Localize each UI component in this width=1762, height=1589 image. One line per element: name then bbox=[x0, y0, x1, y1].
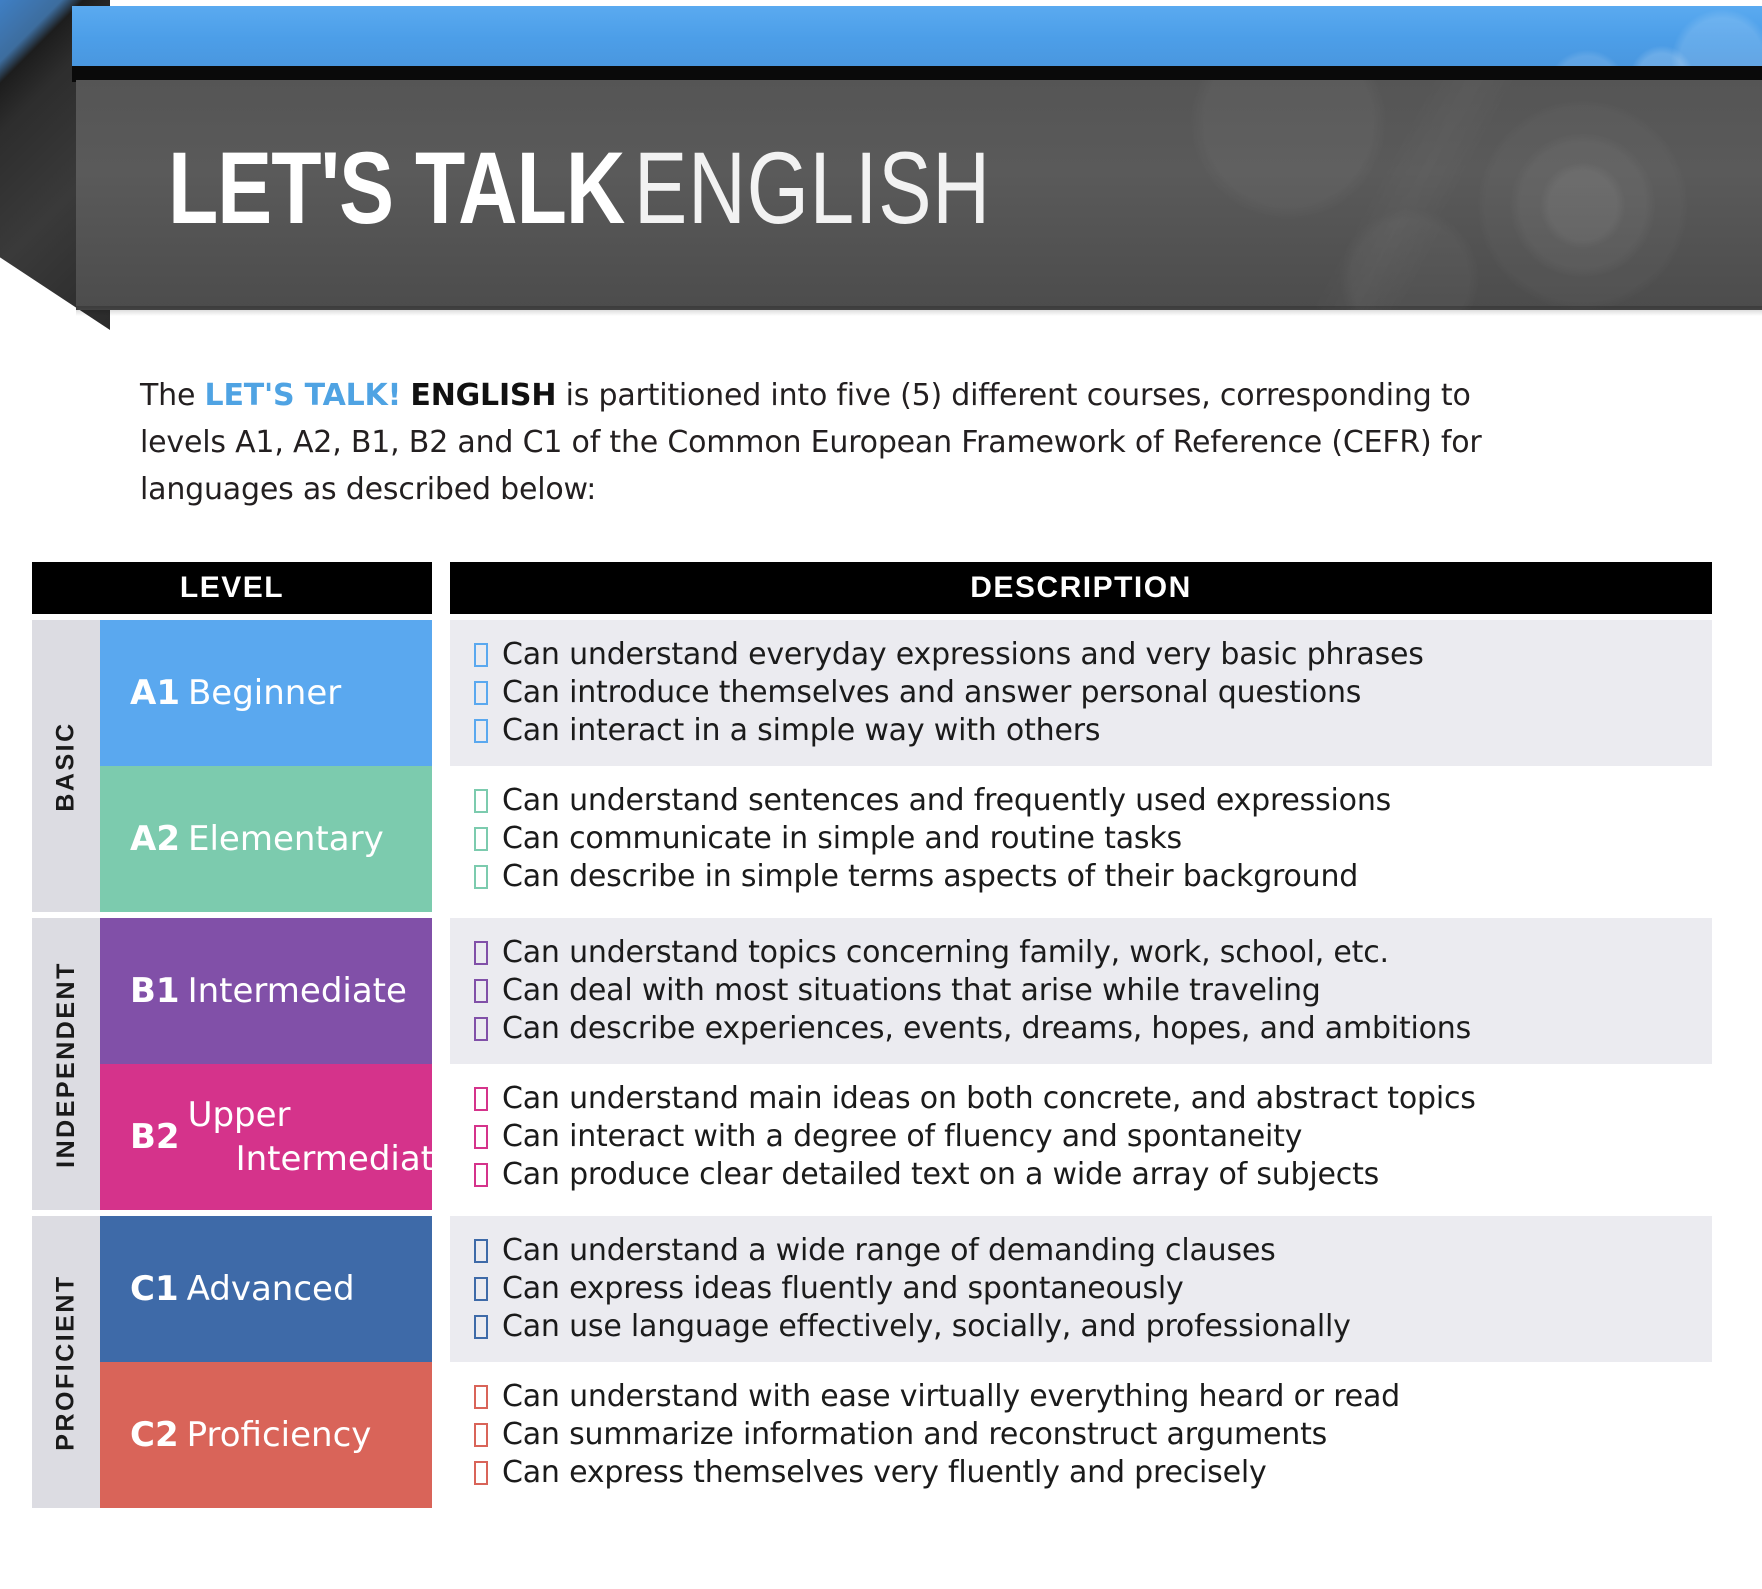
level-group: PROFICIENTC1AdvancedCan understand a wid… bbox=[32, 1216, 1712, 1508]
group-rows: B1IntermediateCan understand topics conc… bbox=[100, 918, 1712, 1210]
group-label-text: BASIC bbox=[52, 721, 81, 811]
description-bullet: Can express ideas fluently and spontaneo… bbox=[474, 1270, 1692, 1308]
level-cell-c2[interactable]: C2Proficiency bbox=[100, 1362, 432, 1508]
level-name-line2: Intermediate bbox=[188, 1137, 455, 1181]
description-bullet: Can understand sentences and frequently … bbox=[474, 782, 1692, 820]
banner-grey-texture bbox=[1122, 80, 1762, 310]
description-bullet: Can understand everyday expressions and … bbox=[474, 636, 1692, 674]
bullet-box-icon bbox=[474, 1163, 488, 1187]
column-spacer bbox=[432, 766, 450, 912]
column-spacer bbox=[432, 1216, 450, 1362]
description-bullet: Can interact in a simple way with others bbox=[474, 712, 1692, 750]
bullet-text: Can understand topics concerning family,… bbox=[502, 935, 1389, 970]
bullet-box-icon bbox=[474, 1315, 488, 1339]
bullet-box-icon bbox=[474, 941, 488, 965]
description-bullet: Can interact with a degree of fluency an… bbox=[474, 1118, 1692, 1156]
level-cell-a1[interactable]: A1Beginner bbox=[100, 620, 432, 766]
level-name: Beginner bbox=[188, 671, 341, 715]
bullet-box-icon bbox=[474, 979, 488, 1003]
description-bullet: Can understand main ideas on both concre… bbox=[474, 1080, 1692, 1118]
bullet-text: Can interact with a degree of fluency an… bbox=[502, 1119, 1302, 1154]
table-body: BASICA1BeginnerCan understand everyday e… bbox=[32, 620, 1712, 1508]
description-bullet: Can produce clear detailed text on a wid… bbox=[474, 1156, 1692, 1194]
bullet-box-icon bbox=[474, 1087, 488, 1111]
bullet-box-icon bbox=[474, 1125, 488, 1149]
bullet-box-icon bbox=[474, 1239, 488, 1263]
level-cell-b1[interactable]: B1Intermediate bbox=[100, 918, 432, 1064]
table-header-row: LEVEL DESCRIPTION bbox=[32, 562, 1712, 614]
page-root: LET'S TALKENGLISH The LET'S TALK! ENGLIS… bbox=[0, 0, 1762, 1589]
level-name: Advanced bbox=[187, 1267, 355, 1311]
group-label-independent: INDEPENDENT bbox=[32, 918, 100, 1210]
cefr-levels-table: LEVEL DESCRIPTION BASICA1BeginnerCan und… bbox=[32, 562, 1712, 1514]
level-group: INDEPENDENTB1IntermediateCan understand … bbox=[32, 918, 1712, 1210]
bullet-box-icon bbox=[474, 643, 488, 667]
level-name-wrapped: UpperIntermediate bbox=[188, 1093, 455, 1181]
description-cell-b1: Can understand topics concerning family,… bbox=[450, 918, 1712, 1064]
bullet-box-icon bbox=[474, 1017, 488, 1041]
description-bullet: Can understand with ease virtually every… bbox=[474, 1378, 1692, 1416]
bullet-text: Can understand a wide range of demanding… bbox=[502, 1233, 1276, 1268]
description-bullet: Can understand a wide range of demanding… bbox=[474, 1232, 1692, 1270]
table-row: C1AdvancedCan understand a wide range of… bbox=[100, 1216, 1712, 1362]
bullet-text: Can understand with ease virtually every… bbox=[502, 1379, 1400, 1414]
banner-blue-strip bbox=[72, 6, 1762, 66]
column-header-level: LEVEL bbox=[32, 562, 432, 614]
column-header-description: DESCRIPTION bbox=[450, 562, 1712, 614]
description-bullet: Can understand topics concerning family,… bbox=[474, 934, 1692, 972]
bullet-text: Can summarize information and reconstruc… bbox=[502, 1417, 1327, 1452]
bullet-text: Can communicate in simple and routine ta… bbox=[502, 821, 1182, 856]
intro-part1: The bbox=[140, 378, 205, 413]
bullet-text: Can describe experiences, events, dreams… bbox=[502, 1011, 1471, 1046]
banner-blue-texture bbox=[1262, 6, 1762, 66]
bullet-text: Can express themselves very fluently and… bbox=[502, 1455, 1267, 1490]
intro-brand-bold: ENGLISH bbox=[410, 378, 556, 413]
group-rows: A1BeginnerCan understand everyday expres… bbox=[100, 620, 1712, 912]
column-spacer bbox=[432, 1064, 450, 1210]
description-bullet: Can describe in simple terms aspects of … bbox=[474, 858, 1692, 896]
level-code: C2 bbox=[130, 1413, 179, 1457]
bullet-box-icon bbox=[474, 1461, 488, 1485]
level-code: B2 bbox=[130, 1115, 180, 1159]
table-row: C2ProficiencyCan understand with ease vi… bbox=[100, 1362, 1712, 1508]
level-code: A2 bbox=[130, 817, 180, 861]
description-cell-a1: Can understand everyday expressions and … bbox=[450, 620, 1712, 766]
group-rows: C1AdvancedCan understand a wide range of… bbox=[100, 1216, 1712, 1508]
column-spacer bbox=[432, 1362, 450, 1508]
level-name: Elementary bbox=[188, 817, 384, 861]
table-row: B2UpperIntermediateCan understand main i… bbox=[100, 1064, 1712, 1210]
bullet-text: Can describe in simple terms aspects of … bbox=[502, 859, 1358, 894]
bullet-text: Can introduce themselves and answer pers… bbox=[502, 675, 1361, 710]
bullet-text: Can express ideas fluently and spontaneo… bbox=[502, 1271, 1184, 1306]
table-row: A1BeginnerCan understand everyday expres… bbox=[100, 620, 1712, 766]
bullet-text: Can interact in a simple way with others bbox=[502, 713, 1100, 748]
description-bullet: Can deal with most situations that arise… bbox=[474, 972, 1692, 1010]
banner-title-bold: LET'S TALK bbox=[168, 137, 624, 239]
bullet-box-icon bbox=[474, 865, 488, 889]
bullet-box-icon bbox=[474, 1423, 488, 1447]
bullet-box-icon bbox=[474, 681, 488, 705]
bullet-text: Can deal with most situations that arise… bbox=[502, 973, 1321, 1008]
banner-title-thin: ENGLISH bbox=[634, 137, 991, 239]
table-row: A2ElementaryCan understand sentences and… bbox=[100, 766, 1712, 912]
bullet-text: Can understand sentences and frequently … bbox=[502, 783, 1391, 818]
banner-title: LET'S TALKENGLISH bbox=[168, 155, 1009, 239]
description-cell-c2: Can understand with ease virtually every… bbox=[450, 1362, 1712, 1508]
level-cell-b2[interactable]: B2UpperIntermediate bbox=[100, 1064, 432, 1210]
bullet-text: Can understand everyday expressions and … bbox=[502, 637, 1424, 672]
intro-paragraph: The LET'S TALK! ENGLISH is partitioned i… bbox=[140, 372, 1510, 513]
bullet-box-icon bbox=[474, 827, 488, 851]
level-cell-a2[interactable]: A2Elementary bbox=[100, 766, 432, 912]
level-name: Intermediate bbox=[188, 969, 407, 1013]
header-gap bbox=[432, 562, 450, 614]
level-code: C1 bbox=[130, 1267, 179, 1311]
level-code: A1 bbox=[130, 671, 180, 715]
bullet-text: Can produce clear detailed text on a wid… bbox=[502, 1157, 1379, 1192]
description-bullet: Can summarize information and reconstruc… bbox=[474, 1416, 1692, 1454]
bullet-box-icon bbox=[474, 789, 488, 813]
description-cell-a2: Can understand sentences and frequently … bbox=[450, 766, 1712, 912]
bullet-box-icon bbox=[474, 1385, 488, 1409]
bullet-text: Can use language effectively, socially, … bbox=[502, 1309, 1351, 1344]
description-bullet: Can describe experiences, events, dreams… bbox=[474, 1010, 1692, 1048]
group-label-text: INDEPENDENT bbox=[52, 961, 81, 1168]
group-label-proficient: PROFICIENT bbox=[32, 1216, 100, 1508]
banner-bottom-shadow bbox=[76, 306, 1762, 316]
column-spacer bbox=[432, 918, 450, 1064]
level-group: BASICA1BeginnerCan understand everyday e… bbox=[32, 620, 1712, 912]
intro-sep bbox=[401, 378, 410, 413]
bullet-box-icon bbox=[474, 1277, 488, 1301]
level-name: Upper bbox=[188, 1095, 291, 1135]
level-name: Proficiency bbox=[187, 1413, 372, 1457]
bullet-text: Can understand main ideas on both concre… bbox=[502, 1081, 1476, 1116]
bullet-box-icon bbox=[474, 719, 488, 743]
column-spacer bbox=[432, 620, 450, 766]
description-cell-c1: Can understand a wide range of demanding… bbox=[450, 1216, 1712, 1362]
description-cell-b2: Can understand main ideas on both concre… bbox=[450, 1064, 1712, 1210]
level-code: B1 bbox=[130, 969, 180, 1013]
level-cell-c1[interactable]: C1Advanced bbox=[100, 1216, 432, 1362]
description-bullet: Can express themselves very fluently and… bbox=[474, 1454, 1692, 1492]
group-label-basic: BASIC bbox=[32, 620, 100, 912]
header-banner: LET'S TALKENGLISH bbox=[0, 0, 1762, 330]
description-bullet: Can use language effectively, socially, … bbox=[474, 1308, 1692, 1346]
description-bullet: Can introduce themselves and answer pers… bbox=[474, 674, 1692, 712]
intro-brand-blue: LET'S TALK! bbox=[205, 378, 402, 413]
group-label-text: PROFICIENT bbox=[52, 1274, 81, 1450]
table-row: B1IntermediateCan understand topics conc… bbox=[100, 918, 1712, 1064]
description-bullet: Can communicate in simple and routine ta… bbox=[474, 820, 1692, 858]
